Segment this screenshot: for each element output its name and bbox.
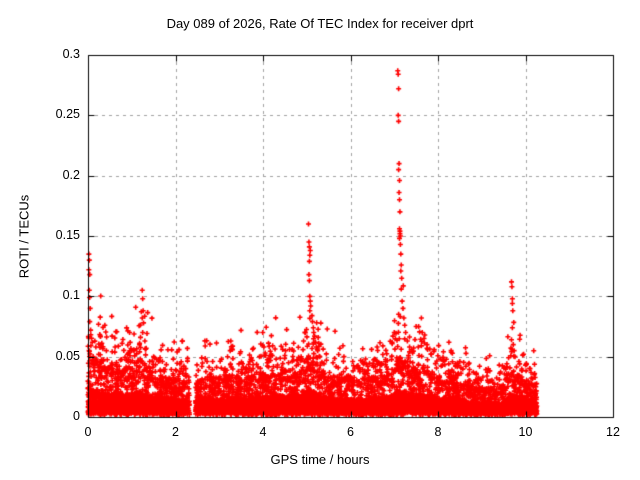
y-tick-label: 0.2	[20, 168, 80, 182]
y-tick-label: 0.3	[20, 47, 80, 61]
y-tick-label: 0.25	[20, 107, 80, 121]
y-tick-label: 0.05	[20, 349, 80, 363]
x-tick-label: 6	[321, 425, 381, 439]
x-tick-label: 10	[496, 425, 556, 439]
y-tick-label: 0.15	[20, 228, 80, 242]
x-tick-label: 2	[146, 425, 206, 439]
x-tick-label: 8	[408, 425, 468, 439]
scatter-plot-canvas	[0, 0, 640, 480]
x-tick-label: 0	[58, 425, 118, 439]
x-tick-label: 12	[583, 425, 640, 439]
chart-container: Day 089 of 2026, Rate Of TEC Index for r…	[0, 0, 640, 480]
x-tick-label: 4	[233, 425, 293, 439]
y-tick-label: 0	[20, 409, 80, 423]
y-tick-label: 0.1	[20, 288, 80, 302]
